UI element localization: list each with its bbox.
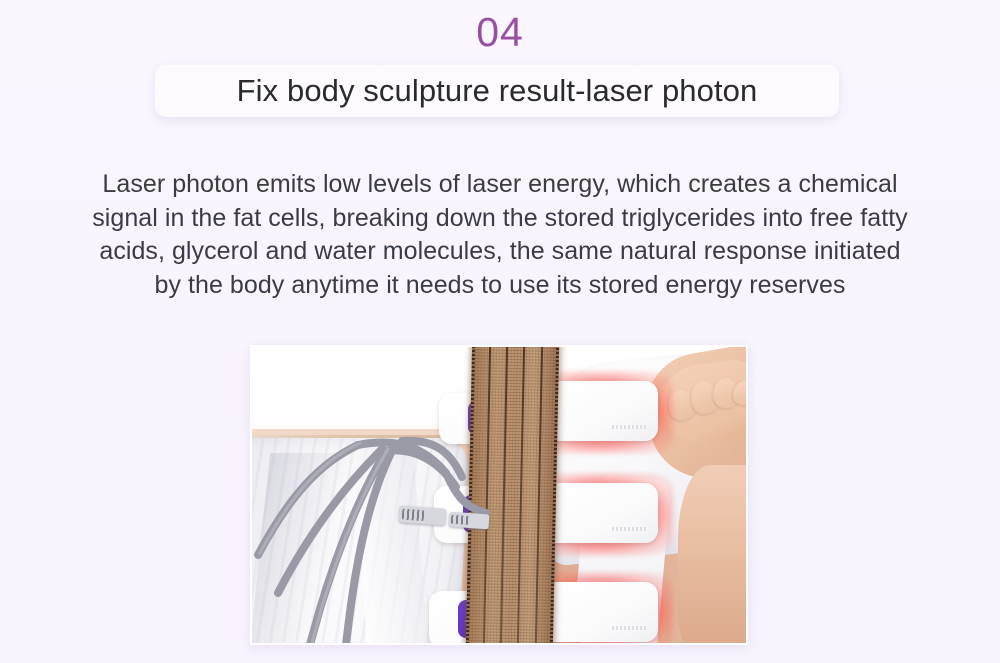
body-paragraph: Laser photon emits low levels of laser e… <box>90 168 910 302</box>
product-photo <box>250 345 748 645</box>
section-number: 04 <box>0 6 1000 58</box>
grey-cable <box>446 473 486 513</box>
title-banner: Fix body sculpture result-laser photon <box>155 65 839 117</box>
slide-content: 04 Fix body sculpture result-laser photo… <box>0 0 1000 663</box>
cable-bundle <box>250 345 748 645</box>
photo-scene <box>250 345 748 645</box>
cables-svg <box>250 345 748 645</box>
cable-connector <box>449 512 490 530</box>
page-title: Fix body sculpture result-laser photon <box>237 73 758 109</box>
cable-connector <box>399 505 447 525</box>
